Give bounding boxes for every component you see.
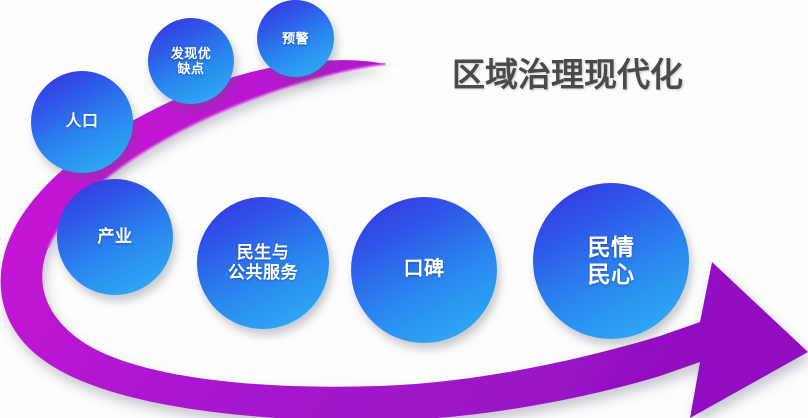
node-label: 发现优缺点 [171, 46, 212, 77]
node-label-line: 人口 [65, 113, 98, 132]
node-label: 产业 [98, 227, 133, 247]
node-minsheng[interactable]: 民生与公共服务 [197, 197, 329, 329]
node-label-line: 产业 [98, 227, 133, 247]
node-label-line: 民情 [588, 234, 635, 261]
node-chanye[interactable]: 产业 [57, 179, 173, 295]
node-label: 民生与公共服务 [228, 243, 298, 283]
node-label: 人口 [65, 113, 98, 132]
node-label-line: 缺点 [171, 61, 212, 76]
node-yujing[interactable]: 预警 [257, 0, 334, 77]
node-renkou[interactable]: 人口 [31, 71, 133, 173]
node-minqing[interactable]: 民情民心 [533, 183, 689, 339]
node-label-line: 预警 [282, 31, 309, 46]
node-label: 预警 [282, 31, 309, 46]
node-label-line: 民生与 [228, 243, 298, 263]
node-label-line: 口碑 [404, 258, 445, 282]
node-faxian[interactable]: 发现优缺点 [148, 18, 234, 104]
node-label-line: 公共服务 [228, 263, 298, 283]
node-label-line: 民心 [588, 261, 635, 288]
diagram-canvas: 预警发现优缺点人口产业民生与公共服务口碑民情民心 区域治理现代化 [0, 0, 808, 418]
node-koubei[interactable]: 口碑 [351, 197, 497, 343]
node-label-line: 发现优 [171, 46, 212, 61]
node-label: 口碑 [404, 258, 445, 282]
page-title: 区域治理现代化 [452, 48, 683, 96]
node-label: 民情民心 [588, 234, 635, 288]
